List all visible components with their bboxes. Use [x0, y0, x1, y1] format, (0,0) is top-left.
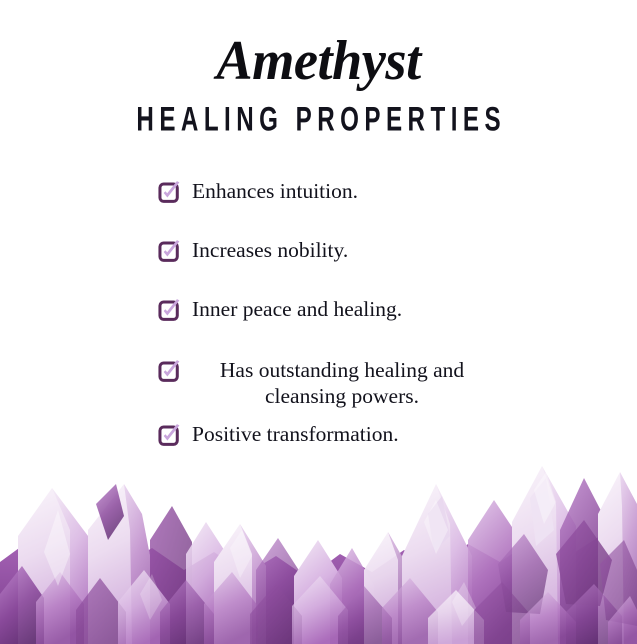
list-item: Positive transformation.	[0, 421, 637, 449]
properties-list: Enhances intuition. Increases nobility. …	[0, 178, 637, 449]
property-text: Positive transformation.	[192, 421, 399, 449]
checkbox-checked-icon	[158, 299, 181, 322]
property-text: Has outstanding healing and cleansing po…	[192, 357, 492, 409]
amethyst-crystal-cluster-image	[0, 444, 637, 644]
list-item: Has outstanding healing and cleansing po…	[0, 357, 637, 409]
poster: Amethyst HEALING PROPERTIES Enhances int…	[0, 0, 637, 644]
checkbox-checked-icon	[158, 181, 181, 204]
property-text: Enhances intuition.	[192, 178, 358, 206]
property-text: Inner peace and healing.	[192, 296, 402, 324]
property-text: Increases nobility.	[192, 237, 348, 265]
checkbox-checked-icon	[158, 240, 181, 263]
list-item: Enhances intuition.	[0, 178, 637, 206]
page-title: Amethyst	[10, 33, 628, 89]
list-item: Increases nobility.	[0, 237, 637, 265]
checkbox-checked-icon	[158, 424, 181, 447]
checkbox-checked-icon	[158, 360, 181, 383]
page-subtitle: HEALING PROPERTIES	[70, 89, 567, 136]
list-item: Inner peace and healing.	[0, 296, 637, 324]
poster-header: Amethyst HEALING PROPERTIES	[0, 0, 637, 131]
